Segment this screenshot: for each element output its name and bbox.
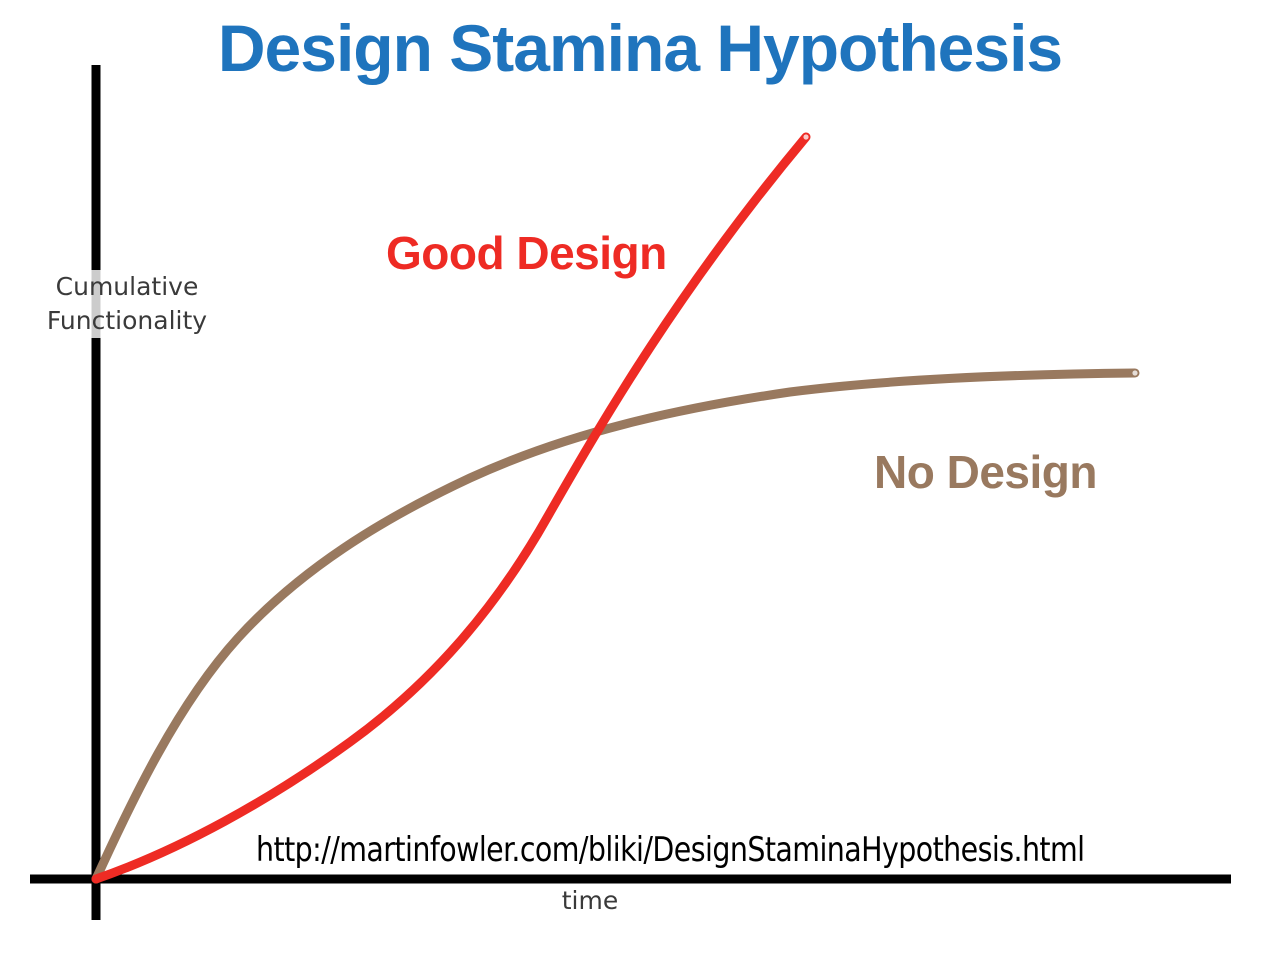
series-label-no-design: No Design xyxy=(874,448,1097,496)
series-label-good-design: Good Design xyxy=(386,229,667,277)
page-title: Design Stamina Hypothesis xyxy=(0,14,1280,83)
slide-canvas: Design Stamina Hypothesis Cumulative Fun… xyxy=(0,0,1280,960)
source-url-text: http://martinfowler.com/bliki/DesignStam… xyxy=(256,833,1085,869)
x-axis-label: time xyxy=(490,888,690,914)
series-endpoint-no-design xyxy=(1132,370,1137,375)
series-endpoint-good-design xyxy=(803,134,808,139)
y-axis-label: Cumulative Functionality xyxy=(32,270,222,338)
